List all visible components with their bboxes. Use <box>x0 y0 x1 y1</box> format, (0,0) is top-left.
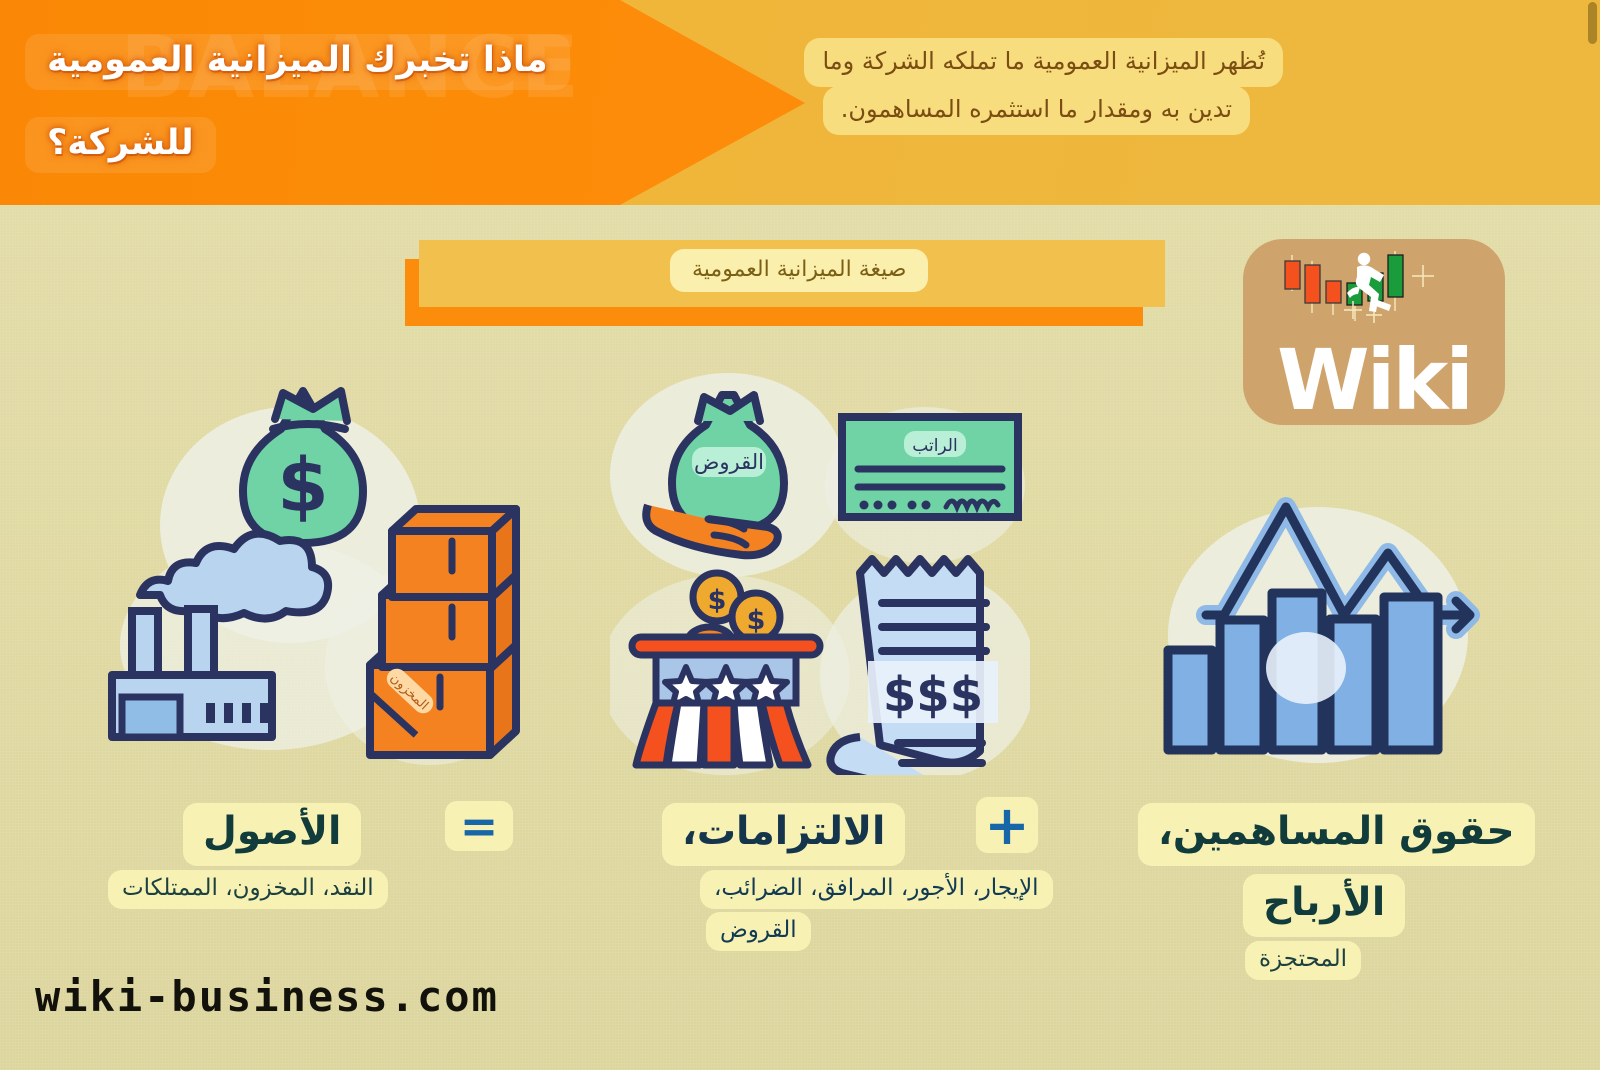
svg-text:$: $ <box>277 443 329 529</box>
bank-cheque-icon: الراتب <box>842 417 1018 517</box>
stacked-boxes-icon: المخزون <box>370 509 516 755</box>
receipt-amount-label: $$$ <box>883 667 983 723</box>
header-banner: BALANCE ماذا تخبرك الميزانية العمومية لل… <box>0 0 1600 205</box>
header-title-line-2: للشركة؟ <box>25 117 216 173</box>
equity-label-2: الأرباح <box>1243 874 1405 937</box>
section-title-bar: صيغة الميزانية العمومية <box>405 240 1165 326</box>
liabilities-sub-label: الإيجار، الأجور، المرافق، الضرائب، <box>700 870 1053 909</box>
header-note-line-2: تدين به ومقدار ما استثمره المساهمون. <box>823 86 1250 135</box>
infographic-page: BALANCE ماذا تخبرك الميزانية العمومية لل… <box>0 0 1600 1070</box>
wiki-logo[interactable]: Wiki <box>1243 239 1505 425</box>
section-title-label: صيغة الميزانية العمومية <box>670 249 928 292</box>
salary-tag-label: الراتب <box>912 436 957 456</box>
wiki-wordmark: Wiki <box>1243 341 1505 421</box>
header-note-line-1: تُظهر الميزانية العمومية ما تملكه الشركة… <box>804 38 1283 87</box>
operator-equals: = <box>445 801 513 851</box>
assets-sub-label: النقد، المخزون، الممتلكات <box>108 870 388 909</box>
operator-plus: + <box>976 797 1038 853</box>
bar-chart-with-trend-arrow-icon <box>1140 455 1490 785</box>
vertical-scrollbar-thumb[interactable] <box>1588 2 1597 44</box>
header-title-line-1: ماذا تخبرك الميزانية العمومية <box>25 34 570 90</box>
loans-tag-label: القروض <box>694 450 764 474</box>
liabilities-sub-label-2: القروض <box>706 912 811 951</box>
equity-sub-label: المحتجزة <box>1245 941 1361 980</box>
assets-icon-group: $ <box>100 345 520 765</box>
liabilities-label: الالتزامات، <box>662 803 905 866</box>
right-chevron-banner-icon <box>0 0 805 205</box>
equity-label: حقوق المساهمين، <box>1138 803 1535 866</box>
site-watermark: wiki-business.com <box>35 972 499 1021</box>
svg-text:$: $ <box>747 605 766 636</box>
assets-label: الأصول <box>183 803 361 866</box>
liabilities-icon-group: القروض الراتب $ $ <box>610 355 1030 775</box>
svg-text:$: $ <box>708 585 727 616</box>
